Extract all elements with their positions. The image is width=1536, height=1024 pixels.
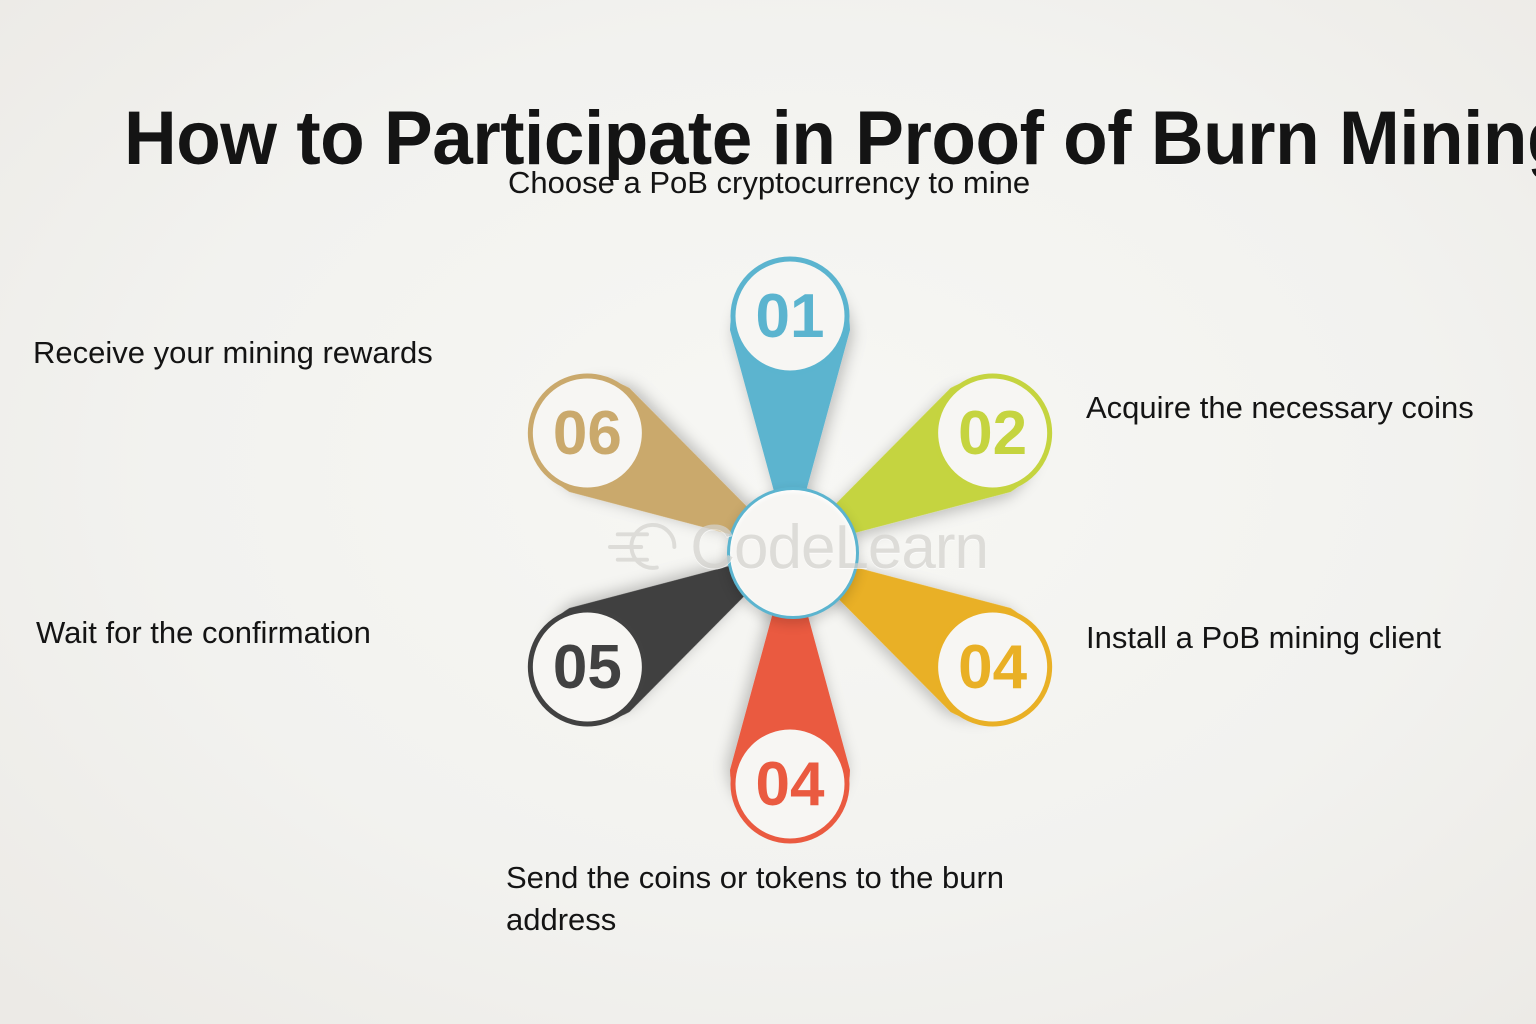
step-caption-01: Choose a PoB cryptocurrency to mine: [508, 162, 1168, 204]
diagram-center-hub: [727, 487, 859, 619]
step-caption-02: Acquire the necessary coins: [1086, 387, 1536, 429]
step-caption-04: Send the coins or tokens to the burn add…: [506, 857, 1106, 941]
step-caption-05: Wait for the confirmation: [36, 612, 506, 654]
step-caption-06: Receive your mining rewards: [33, 332, 513, 374]
step-caption-03: Install a PoB mining client: [1086, 617, 1536, 659]
